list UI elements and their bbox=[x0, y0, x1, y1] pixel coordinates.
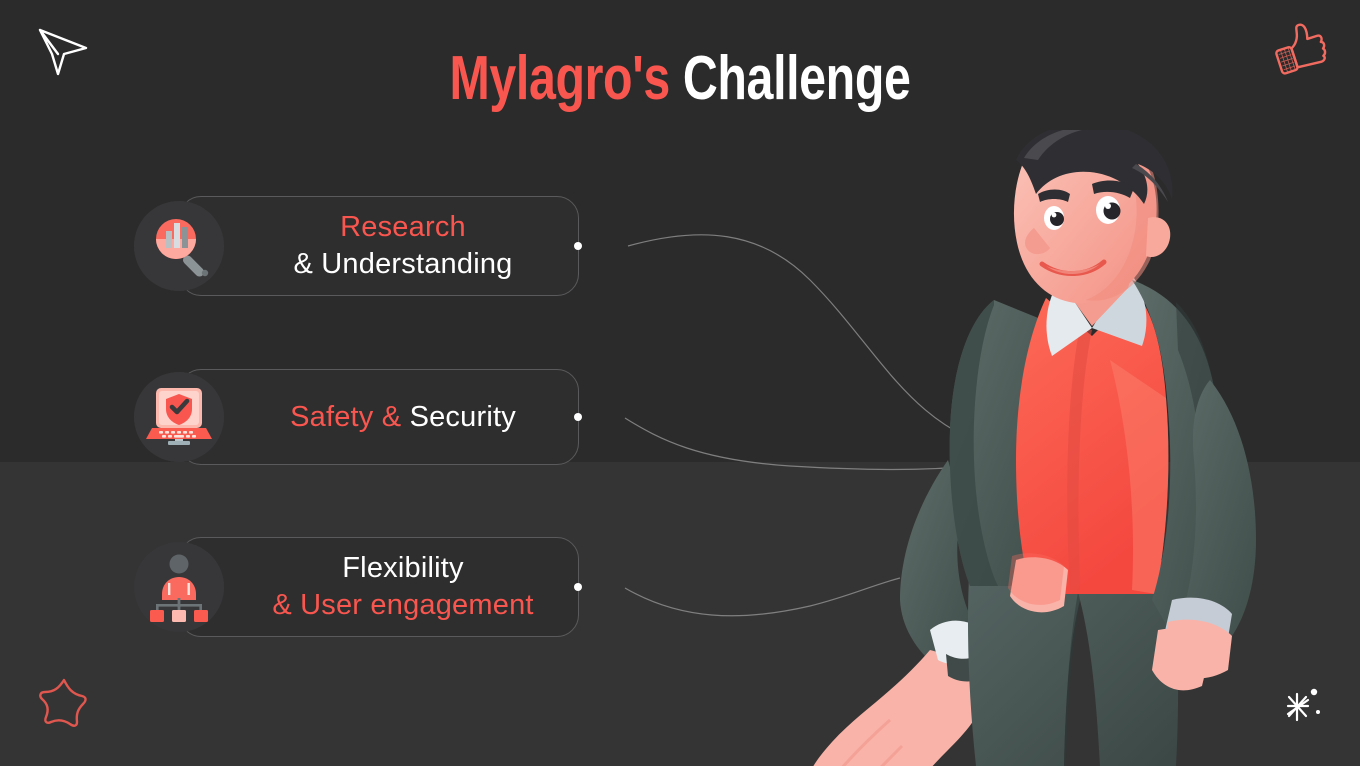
card-flexibility[interactable]: Flexibility & User engagement bbox=[179, 537, 579, 637]
page-title-plain: Challenge bbox=[683, 44, 911, 113]
card-line-2-text: & Understanding bbox=[293, 248, 512, 280]
laptop-shield-icon bbox=[134, 372, 224, 462]
page-title: Mylagro's Challenge bbox=[150, 44, 1211, 114]
page-title-accent: Mylagro's bbox=[450, 44, 670, 113]
connector-dot bbox=[574, 242, 582, 250]
businessman-shrugging-illustration bbox=[780, 130, 1300, 766]
sparkle-icon bbox=[1268, 674, 1330, 741]
card-line-2-text: & User engagement bbox=[272, 589, 533, 621]
connector-dot bbox=[574, 413, 582, 421]
card-line-1-text: Research bbox=[340, 211, 466, 243]
card-safety[interactable]: Safety & Security bbox=[179, 369, 579, 465]
list-item[interactable]: Safety & Security bbox=[134, 371, 634, 463]
org-chart-person-icon bbox=[134, 542, 224, 632]
card-line-1-plain: Security bbox=[410, 401, 516, 433]
star-icon bbox=[32, 672, 94, 739]
slide-root: Mylagro's Challenge Research bbox=[0, 0, 1360, 766]
thumbs-up-icon bbox=[1268, 18, 1330, 85]
list-item[interactable]: Flexibility & User engagement bbox=[134, 541, 634, 633]
connector-dot bbox=[574, 583, 582, 591]
card-line-1: Research bbox=[340, 209, 466, 246]
list-item[interactable]: Research & Understanding bbox=[134, 200, 634, 292]
card-line-2: & User engagement bbox=[272, 587, 533, 624]
card-line-1-text: Flexibility bbox=[342, 552, 463, 584]
card-line-1-accent: Safety & bbox=[290, 401, 401, 433]
card-research[interactable]: Research & Understanding bbox=[179, 196, 579, 296]
card-line-1: Safety & Security bbox=[290, 399, 516, 436]
card-line-2: & Understanding bbox=[293, 246, 512, 283]
magnifier-chart-icon bbox=[134, 201, 224, 291]
card-line-1: Flexibility bbox=[342, 550, 463, 587]
paper-plane-icon bbox=[30, 20, 94, 89]
